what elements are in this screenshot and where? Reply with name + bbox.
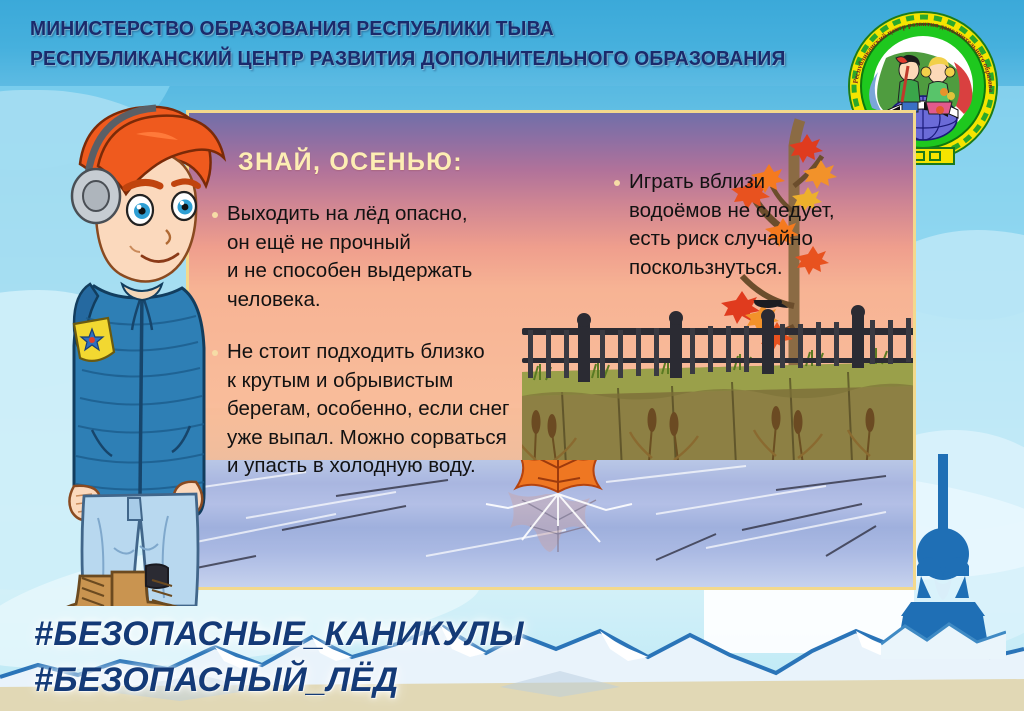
bullet-item: Выходить на лёд опасно, он ещё не прочны… [212, 200, 542, 314]
header-line-1: МИНИСТЕРСТВО ОБРАЗОВАНИЯ РЕСПУБЛИКИ ТЫВА [30, 14, 773, 44]
bullet-text: Играть вблизи водоёмов не следует, есть … [629, 168, 835, 282]
content-panel: ЗНАЙ, ОСЕНЬЮ: Выходить на лёд опасно, он… [186, 110, 916, 590]
hashtag-block: #БЕЗОПАСНЫЕ_КАНИКУЛЫ #БЕЗОПАСНЫЙ_ЛЁД [34, 611, 554, 703]
bullet-text: Не стоит подходить близко к крутым и обр… [227, 338, 509, 481]
organization-title: МИНИСТЕРСТВО ОБРАЗОВАНИЯ РЕСПУБЛИКИ ТЫВА… [30, 14, 820, 74]
bullet-text: Выходить на лёд опасно, он ещё не прочны… [227, 200, 472, 314]
safety-poster: МИНИСТЕРСТВО ОБРАЗОВАНИЯ РЕСПУБЛИКИ ТЫВА… [0, 0, 1024, 711]
hashtag-1: #БЕЗОПАСНЫЕ_КАНИКУЛЫ [34, 611, 554, 657]
bullet-item: Играть вблизи водоёмов не следует, есть … [614, 168, 882, 282]
bullets-right: Играть вблизи водоёмов не следует, есть … [614, 168, 882, 306]
hashtag-2: #БЕЗОПАСНЫЙ_ЛЁД [34, 657, 554, 703]
bullet-dot-icon [614, 180, 620, 186]
bullet-item: Не стоит подходить близко к крутым и обр… [212, 338, 542, 481]
boy-character [18, 78, 248, 606]
header-line-2: РЕСПУБЛИКАНСКИЙ ЦЕНТР РАЗВИТИЯ ДОПОЛНИТЕ… [30, 44, 773, 74]
panel-title: ЗНАЙ, ОСЕНЬЮ: [238, 148, 463, 177]
bullets-left: Выходить на лёд опасно, он ещё не прочны… [212, 200, 542, 505]
